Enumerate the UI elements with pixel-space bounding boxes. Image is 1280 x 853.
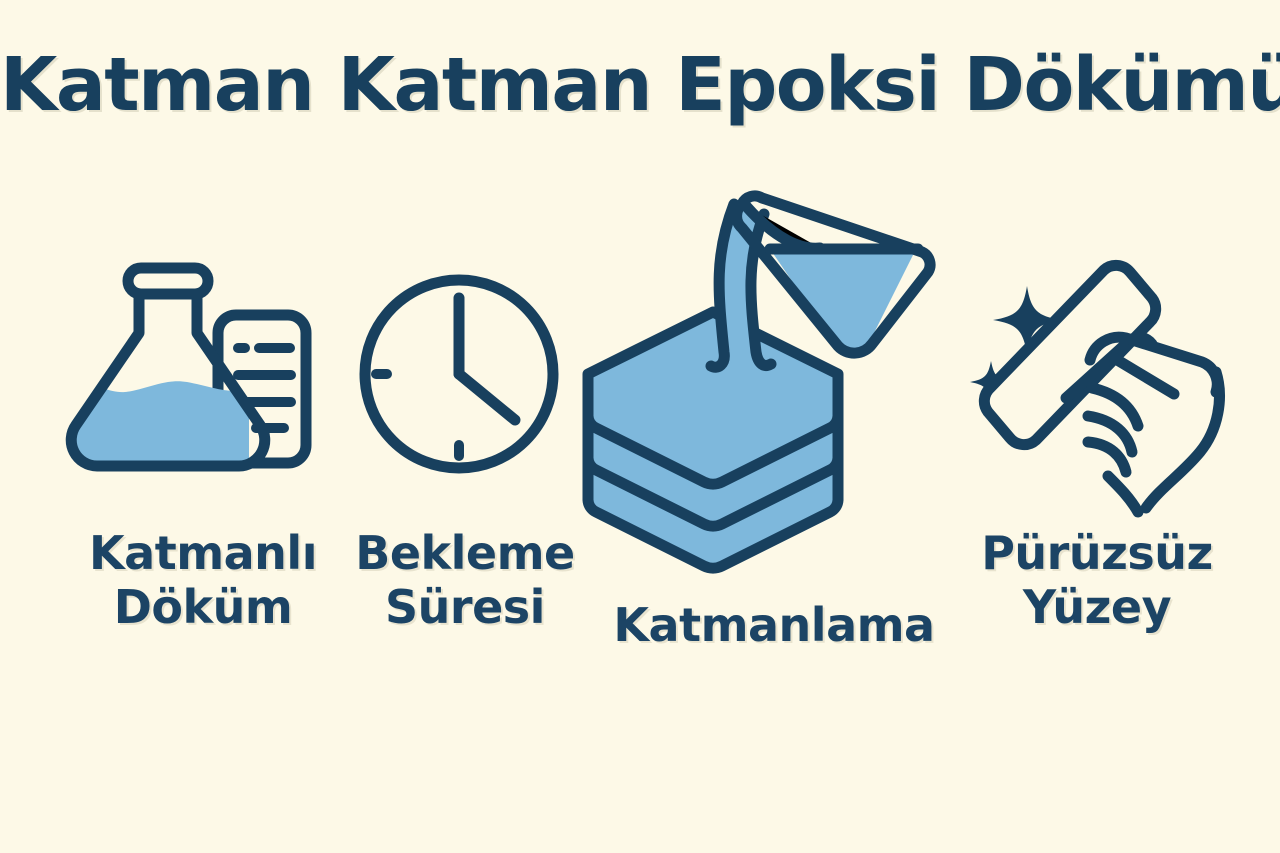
- step-2-icon-wrap: [348, 262, 582, 512]
- clock-icon: [355, 262, 575, 492]
- step-1-label: Katmanlı Döküm: [58, 526, 348, 635]
- infographic-canvas: Katman Katman Epoksi Dökümü: [0, 0, 1280, 853]
- step-item-3: Katmanlama: [566, 190, 982, 652]
- flask-clipboard-icon: [73, 262, 333, 502]
- pouring-pitcher-layers-icon: [574, 190, 974, 570]
- step-1-icon-wrap: [58, 262, 348, 512]
- step-2-label: Bekleme Süresi: [348, 526, 582, 635]
- step-4-icon-wrap: [962, 262, 1232, 512]
- step-item-2: Bekleme Süresi: [348, 262, 582, 635]
- hand-polishing-block-sparkle-icon: [962, 262, 1242, 512]
- step-item-1: Katmanlı Döküm: [58, 262, 348, 635]
- step-3-icon-wrap: [566, 190, 982, 582]
- steps-row: Katmanlı Döküm: [0, 0, 1280, 853]
- step-item-4: Pürüzsüz Yüzey: [962, 262, 1232, 635]
- step-3-label: Katmanlama: [566, 598, 982, 652]
- step-4-label: Pürüzsüz Yüzey: [962, 526, 1232, 635]
